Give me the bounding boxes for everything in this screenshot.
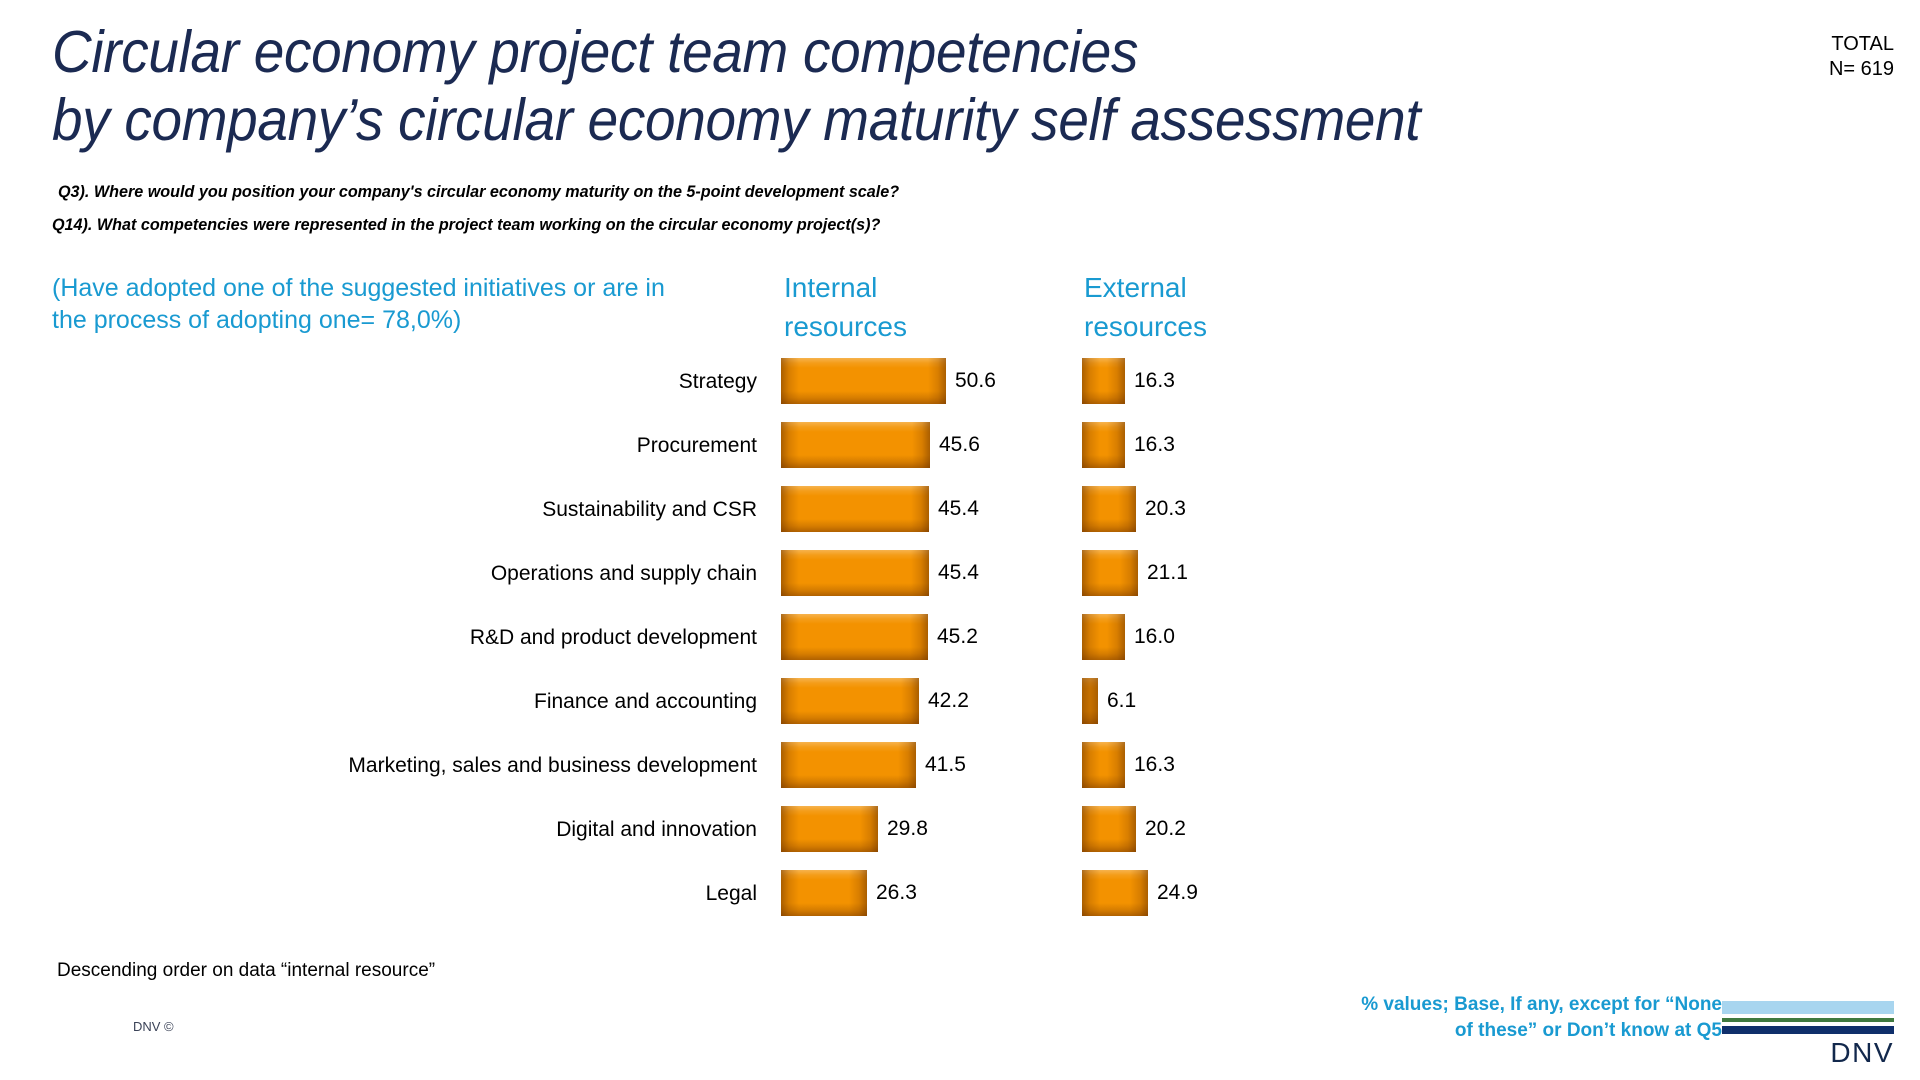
category-label: Finance and accounting <box>534 689 757 715</box>
bar-value-internal: 50.6 <box>955 368 996 394</box>
bar-external[interactable] <box>1082 486 1136 532</box>
dnv-logo: DNV <box>1722 1001 1894 1069</box>
bar-value-internal: 29.8 <box>887 816 928 842</box>
bar-internal[interactable] <box>781 806 878 852</box>
chart-rows: Strategy50.616.3Procurement45.616.3Susta… <box>0 356 1920 932</box>
bar-internal[interactable] <box>781 486 929 532</box>
bar-external[interactable] <box>1082 678 1098 724</box>
bar-value-internal: 45.2 <box>937 624 978 650</box>
bar-group-external: 20.2 <box>1082 806 1186 852</box>
bar-value-internal: 45.4 <box>938 560 979 586</box>
chart-row: Legal26.324.9 <box>0 868 1920 932</box>
logo-bar-light <box>1722 1001 1894 1014</box>
base-note: % values; Base, If any, except for “None… <box>1302 992 1722 1044</box>
bar-group-external: 20.3 <box>1082 486 1186 532</box>
question-q3: Q3). Where would you position your compa… <box>58 182 899 202</box>
logo-bar-navy <box>1722 1026 1894 1034</box>
page-title: Circular economy project team competenci… <box>52 18 1752 154</box>
bar-external[interactable] <box>1082 742 1125 788</box>
bar-group-internal: 29.8 <box>781 806 928 852</box>
chart-row: Sustainability and CSR45.420.3 <box>0 484 1920 548</box>
chart-row: Procurement45.616.3 <box>0 420 1920 484</box>
bar-internal[interactable] <box>781 550 929 596</box>
bar-internal[interactable] <box>781 614 928 660</box>
total-base-block: TOTAL N= 619 <box>1829 32 1894 82</box>
chart-row: Strategy50.616.3 <box>0 356 1920 420</box>
adoption-note: (Have adopted one of the suggested initi… <box>52 272 672 336</box>
page-title-line-2: by company’s circular economy maturity s… <box>52 86 1633 154</box>
bar-value-internal: 42.2 <box>928 688 969 714</box>
bar-group-external: 16.3 <box>1082 358 1175 404</box>
chart-row: Operations and supply chain45.421.1 <box>0 548 1920 612</box>
category-label: Sustainability and CSR <box>542 497 757 523</box>
bar-value-internal: 26.3 <box>876 880 917 906</box>
bar-value-external: 24.9 <box>1157 880 1198 906</box>
total-label: TOTAL <box>1829 32 1894 57</box>
bar-external[interactable] <box>1082 870 1148 916</box>
bar-value-internal: 41.5 <box>925 752 966 778</box>
sort-order-note: Descending order on data “internal resou… <box>57 960 435 982</box>
bar-value-external: 6.1 <box>1107 688 1136 714</box>
bar-group-external: 24.9 <box>1082 870 1198 916</box>
bar-value-external: 20.3 <box>1145 496 1186 522</box>
bar-internal[interactable] <box>781 358 946 404</box>
chart-row: Digital and innovation29.820.2 <box>0 804 1920 868</box>
bar-group-external: 16.3 <box>1082 422 1175 468</box>
category-label: Operations and supply chain <box>491 561 757 587</box>
copyright-note: DNV © <box>133 1019 174 1034</box>
bar-group-internal: 45.4 <box>781 550 979 596</box>
category-label: Digital and innovation <box>556 817 757 843</box>
logo-wordmark: DNV <box>1722 1037 1894 1069</box>
bar-group-internal: 45.2 <box>781 614 978 660</box>
category-label: Legal <box>706 881 757 907</box>
bar-value-internal: 45.6 <box>939 432 980 458</box>
column-header-internal: Internal resources <box>784 268 907 346</box>
bar-internal[interactable] <box>781 422 930 468</box>
chart-row: Finance and accounting42.26.1 <box>0 676 1920 740</box>
bar-value-external: 16.3 <box>1134 432 1175 458</box>
bar-external[interactable] <box>1082 806 1136 852</box>
bar-group-internal: 41.5 <box>781 742 966 788</box>
bar-external[interactable] <box>1082 358 1125 404</box>
chart-row: R&D and product development45.216.0 <box>0 612 1920 676</box>
bar-value-external: 21.1 <box>1147 560 1188 586</box>
bar-value-external: 16.0 <box>1134 624 1175 650</box>
category-label: Strategy <box>679 369 757 395</box>
bar-group-internal: 45.4 <box>781 486 979 532</box>
bar-external[interactable] <box>1082 422 1125 468</box>
bar-group-internal: 26.3 <box>781 870 917 916</box>
bar-value-external: 20.2 <box>1145 816 1186 842</box>
bar-value-external: 16.3 <box>1134 752 1175 778</box>
question-q14: Q14). What competencies were represented… <box>52 215 880 235</box>
category-label: R&D and product development <box>470 625 757 651</box>
bar-group-external: 6.1 <box>1082 678 1136 724</box>
bar-internal[interactable] <box>781 742 916 788</box>
bar-group-external: 16.3 <box>1082 742 1175 788</box>
bar-value-external: 16.3 <box>1134 368 1175 394</box>
bar-internal[interactable] <box>781 870 867 916</box>
page-title-line-1: Circular economy project team competenci… <box>52 18 1633 86</box>
bar-group-internal: 50.6 <box>781 358 996 404</box>
bar-external[interactable] <box>1082 550 1138 596</box>
bar-internal[interactable] <box>781 678 919 724</box>
bar-value-internal: 45.4 <box>938 496 979 522</box>
bar-group-internal: 45.6 <box>781 422 980 468</box>
category-label: Marketing, sales and business developmen… <box>348 753 757 779</box>
bar-external[interactable] <box>1082 614 1125 660</box>
category-label: Procurement <box>637 433 757 459</box>
total-value: N= 619 <box>1829 57 1894 82</box>
bar-group-external: 21.1 <box>1082 550 1188 596</box>
bar-group-internal: 42.2 <box>781 678 969 724</box>
chart-row: Marketing, sales and business developmen… <box>0 740 1920 804</box>
column-header-external: External resources <box>1084 268 1207 346</box>
bar-group-external: 16.0 <box>1082 614 1175 660</box>
